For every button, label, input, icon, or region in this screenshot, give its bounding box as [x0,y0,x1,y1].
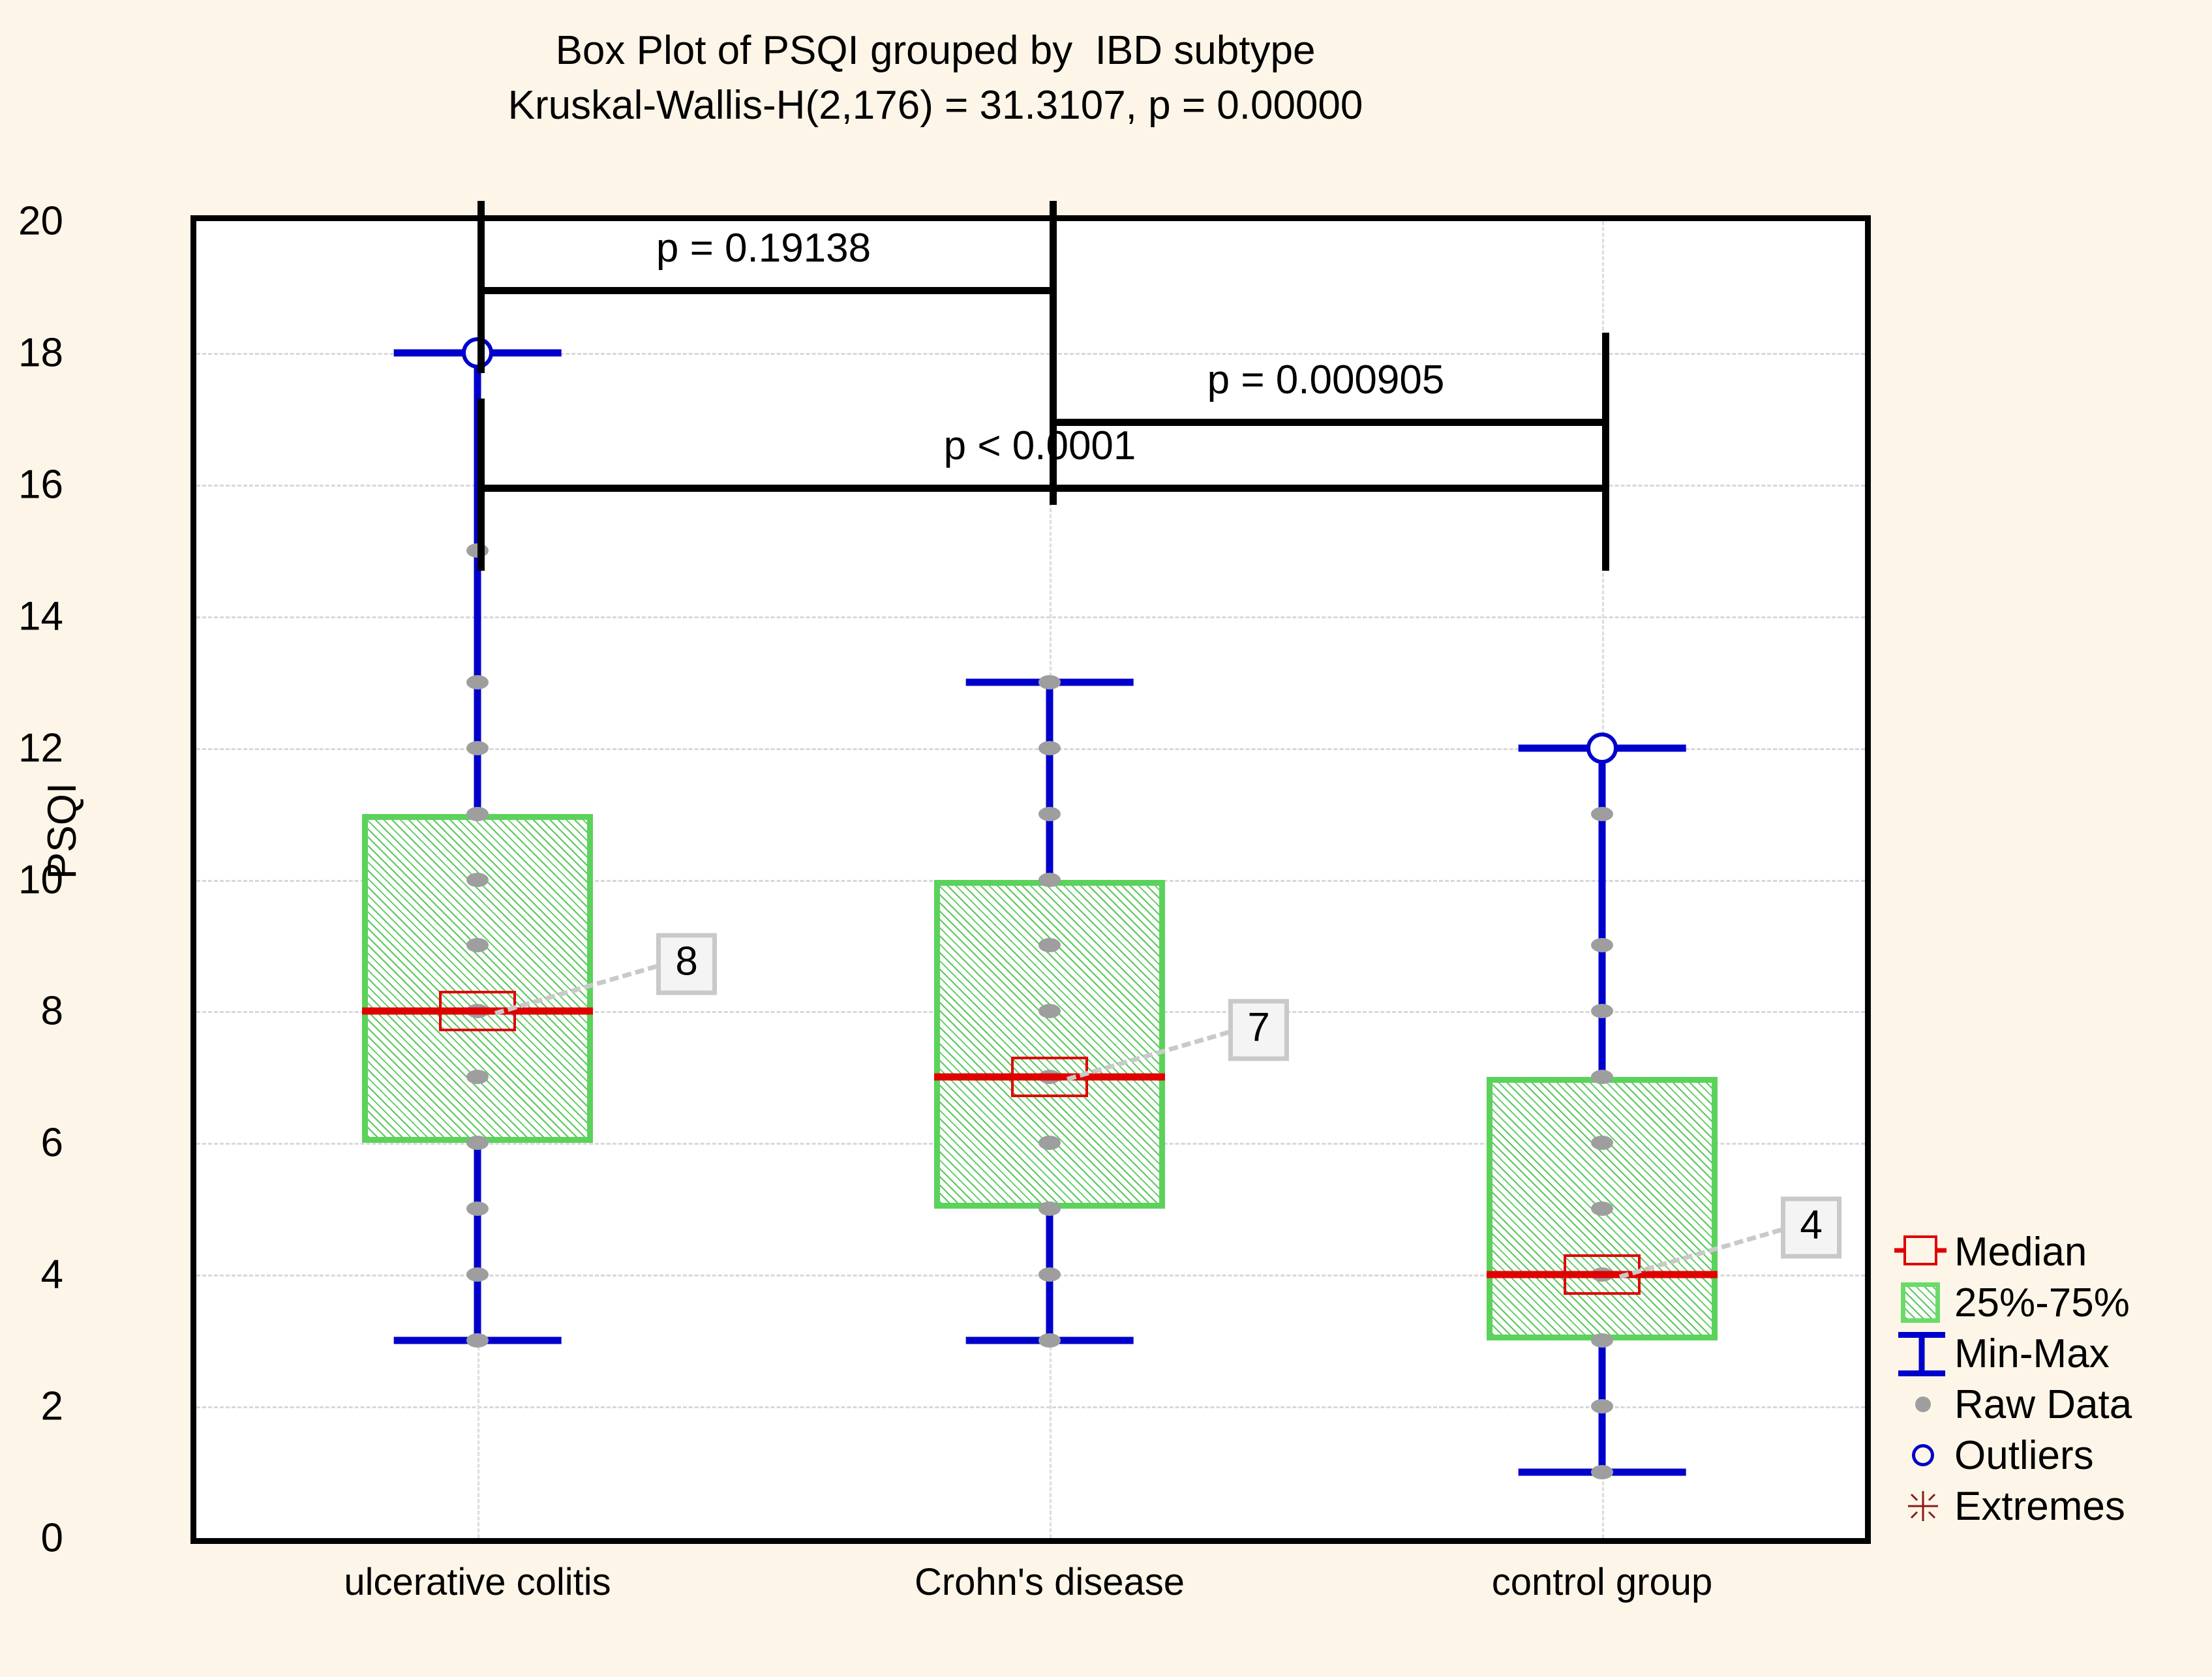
bracket-pvalue-label: p = 0.19138 [656,225,871,271]
y-tick-label: 4 [0,1252,63,1298]
median-value-label: 8 [656,933,716,995]
legend-key [1892,1328,1954,1379]
raw-data-point [1038,1267,1061,1282]
title-block: Box Plot of PSQI grouped by IBD subtype … [0,26,1871,130]
raw-data-point [1591,1004,1613,1018]
x-tick-label: Crohn's disease [915,1560,1185,1604]
bracket-tick-left [477,399,485,571]
bracket-bar [477,485,1602,492]
quartile-box [362,814,593,1143]
legend-item-extremes: Extremes [1892,1481,2198,1532]
chart-canvas: Box Plot of PSQI grouped by IBD subtype … [0,0,2212,1677]
raw-data-point [466,807,489,821]
raw-data-point [1038,938,1061,952]
x-tick-label: control group [1492,1560,1713,1604]
plot-area: p = 0.19138p = 0.000905p < 0.0001 874 [190,215,1871,1544]
legend-key [1892,1379,1954,1430]
minmax-key-icon [1898,1332,1945,1376]
y-tick-label: 10 [0,856,63,903]
bracket-pvalue-label: p = 0.000905 [1207,357,1445,403]
raw-data-point [1038,675,1061,689]
median-value-label: 7 [1228,999,1288,1061]
gridline [196,1406,1865,1408]
bracket-tick-left [1050,333,1057,505]
y-tick-label: 14 [0,593,63,639]
chart-legend: Median25%-75%Min-MaxRaw DataOutliersExtr… [1892,1226,2198,1532]
raw-data-point [1038,741,1061,755]
y-tick-label: 20 [0,198,63,245]
raw-data-point [1591,1201,1613,1216]
raw-data-point [466,1070,489,1084]
legend-key [1892,1430,1954,1481]
raw-data-point [1038,807,1061,821]
raw-data-key-icon [1915,1397,1931,1412]
legend-label: Min-Max [1954,1331,2110,1377]
median-key-icon [1903,1235,1937,1265]
raw-data-point [1591,1399,1613,1413]
raw-data-point [466,675,489,689]
chart-subtitle: Kruskal-Wallis-H(2,176) = 31.3107, p = 0… [0,81,1871,130]
plot-inner: p = 0.19138p = 0.000905p < 0.0001 874 [196,221,1865,1538]
raw-data-point [1038,873,1061,887]
x-tick-label: ulcerative colitis [344,1560,611,1604]
raw-data-point [466,1267,489,1282]
raw-data-point [466,1201,489,1216]
y-tick-label: 12 [0,725,63,771]
legend-item-rawdata: Raw Data [1892,1379,2198,1430]
chart-title: Box Plot of PSQI grouped by IBD subtype [0,26,1871,76]
legend-item-iqr: 25%-75% [1892,1277,2198,1328]
legend-key [1892,1226,1954,1277]
raw-data-point [1038,1333,1061,1348]
gridline [196,616,1865,618]
raw-data-point [466,938,489,952]
y-tick-label: 16 [0,461,63,507]
raw-data-point [1038,1004,1061,1018]
outliers-key-icon [1912,1444,1934,1466]
bracket-tick-left [477,201,485,373]
extremes-key-icon [1903,1486,1943,1526]
bracket-bar [477,287,1050,294]
raw-data-point [1038,1201,1061,1216]
raw-data-point [466,741,489,755]
outlier-point [1586,733,1618,764]
iqr-key-icon [1901,1282,1940,1323]
raw-data-point [1591,938,1613,952]
median-value-label: 4 [1781,1197,1841,1259]
legend-item-outliers: Outliers [1892,1430,2198,1481]
raw-data-point [466,1333,489,1348]
legend-label: Extremes [1954,1483,2125,1530]
y-tick-label: 8 [0,988,63,1035]
y-tick-label: 18 [0,329,63,376]
raw-data-point [1591,807,1613,821]
raw-data-point [1591,1333,1613,1348]
raw-data-point [1591,1070,1613,1084]
raw-data-point [1038,1136,1061,1150]
raw-data-point [1591,1465,1613,1479]
quartile-box [934,880,1165,1209]
raw-data-point [466,873,489,887]
legend-item-median: Median [1892,1226,2198,1277]
y-tick-label: 2 [0,1383,63,1430]
bracket-pvalue-label: p < 0.0001 [944,423,1136,469]
legend-item-minmax: Min-Max [1892,1328,2198,1379]
legend-label: Raw Data [1954,1382,2132,1428]
bracket-tick-right [1602,399,1609,571]
y-tick-label: 6 [0,1120,63,1166]
legend-key [1892,1277,1954,1328]
raw-data-point [1591,1136,1613,1150]
legend-label: 25%-75% [1954,1280,2130,1326]
legend-label: Outliers [1954,1432,2094,1479]
legend-label: Median [1954,1229,2087,1275]
raw-data-point [466,1136,489,1150]
legend-key [1892,1481,1954,1532]
y-tick-label: 0 [0,1515,63,1562]
